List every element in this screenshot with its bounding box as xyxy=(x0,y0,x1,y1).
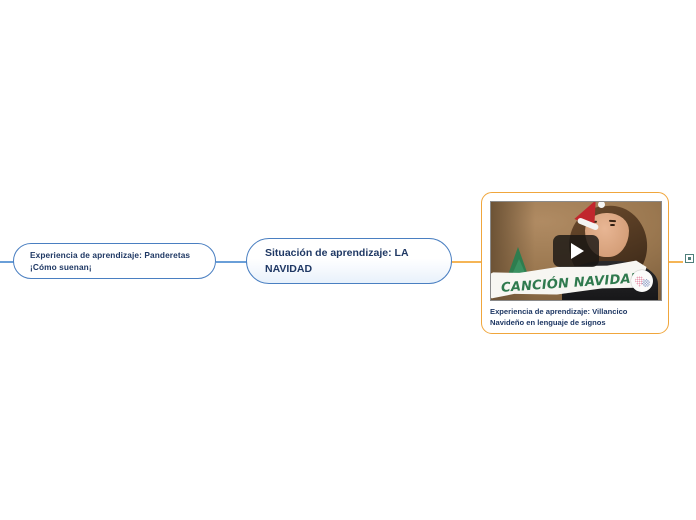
mindmap-node-villancico-label: Experiencia de aprendizaje: Villancico N… xyxy=(490,306,660,328)
connector-situacion-to-villancico xyxy=(452,261,482,263)
connector-villancico-to-expand xyxy=(669,261,683,263)
connector-left-stub xyxy=(0,261,14,263)
mindmap-node-situacion[interactable]: Situación de aprendizaje: LA NAVIDAD xyxy=(246,238,452,284)
expand-outward-icon[interactable] xyxy=(685,254,694,263)
connector-panderetas-to-situacion xyxy=(216,261,247,263)
video-thumbnail[interactable]: CANCIÓN NAVIDAD xyxy=(490,201,662,301)
play-triangle xyxy=(571,243,584,259)
mindmap-node-situacion-label: Situación de aprendizaje: LA NAVIDAD xyxy=(247,245,451,277)
channel-logo xyxy=(631,270,653,292)
mindmap-node-villancico[interactable]: CANCIÓN NAVIDAD Experiencia de aprendiza… xyxy=(481,192,669,334)
person-eye-right xyxy=(610,224,615,227)
mindmap-node-panderetas[interactable]: Experiencia de aprendizaje: Panderetas ¡… xyxy=(13,243,216,279)
play-icon[interactable] xyxy=(553,235,599,267)
mindmap-canvas: Experiencia de aprendizaje: Panderetas ¡… xyxy=(0,0,696,520)
mindmap-node-panderetas-label: Experiencia de aprendizaje: Panderetas ¡… xyxy=(14,249,215,274)
